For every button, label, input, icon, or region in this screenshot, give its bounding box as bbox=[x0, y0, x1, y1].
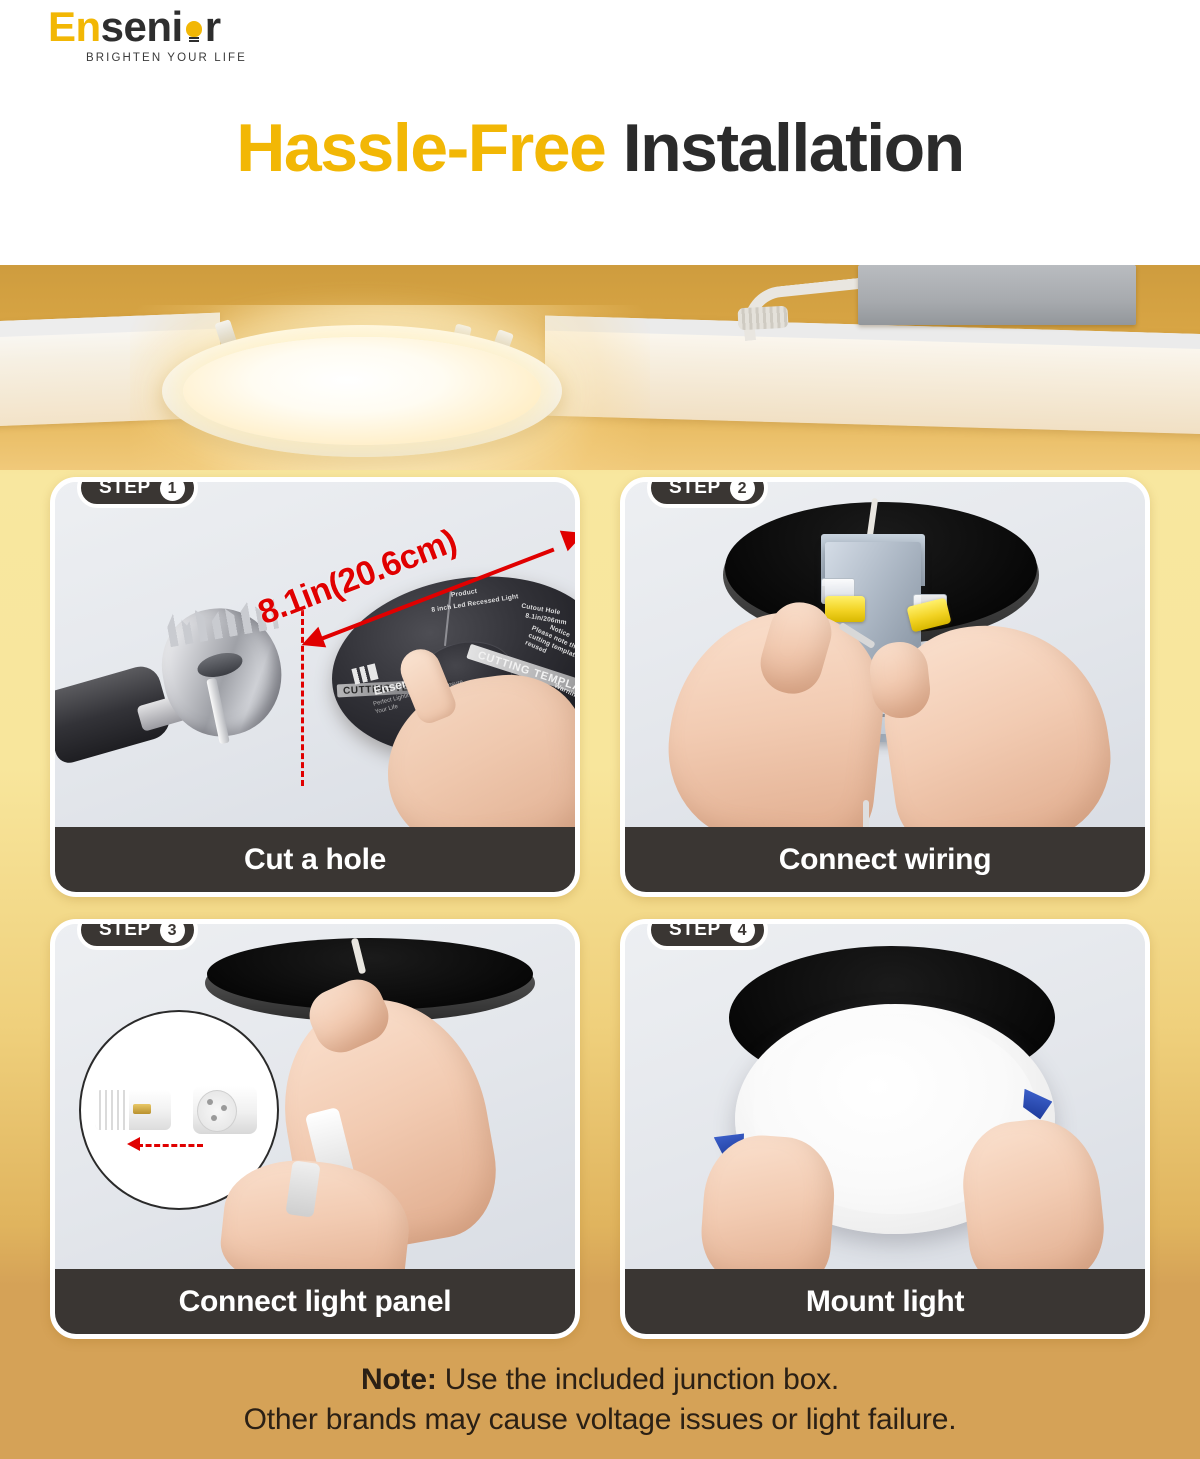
connector-male-thread bbox=[95, 1090, 129, 1130]
step-caption-1: Cut a hole bbox=[55, 827, 575, 892]
dimension-arrow-right bbox=[560, 523, 575, 551]
note-line-1: Note: Use the included junction box. bbox=[0, 1360, 1200, 1400]
brand-logo: Ensenir BRIGHTEN YOUR LIFE bbox=[48, 6, 288, 62]
note-text-1: Use the included junction box. bbox=[437, 1363, 839, 1396]
step-card-4[interactable]: STEP 4 Mount light bbox=[620, 919, 1150, 1339]
step-2-photo bbox=[625, 482, 1145, 837]
step-1-photo: Product 8 inch Led Recessed Light Cutout… bbox=[55, 482, 575, 837]
step-badge-4: STEP 4 bbox=[647, 919, 768, 950]
step-card-2[interactable]: STEP 2 Connect wiring bbox=[620, 477, 1150, 897]
step-badge-number: 2 bbox=[730, 477, 755, 501]
logo-text-en: En bbox=[48, 3, 101, 50]
wire-connector-grip bbox=[737, 306, 788, 331]
wire-connector-yellow bbox=[825, 596, 865, 622]
footer-note: Note: Use the included junction box. Oth… bbox=[0, 1360, 1200, 1440]
logo-text-seni: seni bbox=[101, 3, 183, 50]
installed-downlight-face bbox=[183, 337, 541, 445]
connection-arrow-line bbox=[137, 1144, 203, 1147]
logo-text-r: r bbox=[205, 3, 221, 50]
step-badge-label: STEP bbox=[99, 477, 151, 499]
installation-body: Product 8 inch Led Recessed Light Cutout… bbox=[0, 265, 1200, 1459]
step-badge-1: STEP 1 bbox=[77, 477, 198, 508]
step-badge-label: STEP bbox=[669, 919, 721, 941]
connector-female-face bbox=[197, 1090, 237, 1132]
step-badge-label: STEP bbox=[99, 919, 151, 941]
hand-left bbox=[698, 1132, 838, 1279]
lightbulb-icon bbox=[183, 21, 205, 43]
step-4-photo bbox=[625, 924, 1145, 1279]
step-badge-number: 1 bbox=[160, 477, 185, 501]
step-badge-3: STEP 3 bbox=[77, 919, 198, 950]
page-header: Ensenir BRIGHTEN YOUR LIFE Hassle-Free I… bbox=[0, 0, 1200, 265]
step-card-1[interactable]: Product 8 inch Led Recessed Light Cutout… bbox=[50, 477, 580, 897]
junction-box bbox=[858, 265, 1136, 325]
note-label: Note: bbox=[361, 1363, 437, 1396]
hand-right bbox=[957, 1113, 1109, 1279]
page-title-rest: Installation bbox=[605, 110, 963, 186]
page-title-highlight: Hassle-Free bbox=[236, 110, 605, 186]
note-line-2: Other brands may cause voltage issues or… bbox=[0, 1400, 1200, 1440]
step-badge-label: STEP bbox=[669, 477, 721, 499]
step-badge-2: STEP 2 bbox=[647, 477, 768, 508]
connector-pin bbox=[133, 1104, 151, 1114]
hero-ceiling-scene bbox=[0, 265, 1200, 470]
step-badge-number: 4 bbox=[730, 919, 755, 943]
logo-wordmark: Ensenir bbox=[48, 6, 288, 48]
step-badge-number: 3 bbox=[160, 919, 185, 943]
step-caption-3: Connect light panel bbox=[55, 1269, 575, 1334]
step-caption-4: Mount light bbox=[625, 1269, 1145, 1334]
step-3-photo bbox=[55, 924, 575, 1279]
logo-tagline: BRIGHTEN YOUR LIFE bbox=[86, 52, 247, 64]
step-caption-2: Connect wiring bbox=[625, 827, 1145, 892]
connection-arrow-head bbox=[127, 1137, 140, 1151]
page-title: Hassle-Free Installation bbox=[0, 108, 1200, 188]
step-card-3[interactable]: STEP 3 Connect light panel bbox=[50, 919, 580, 1339]
